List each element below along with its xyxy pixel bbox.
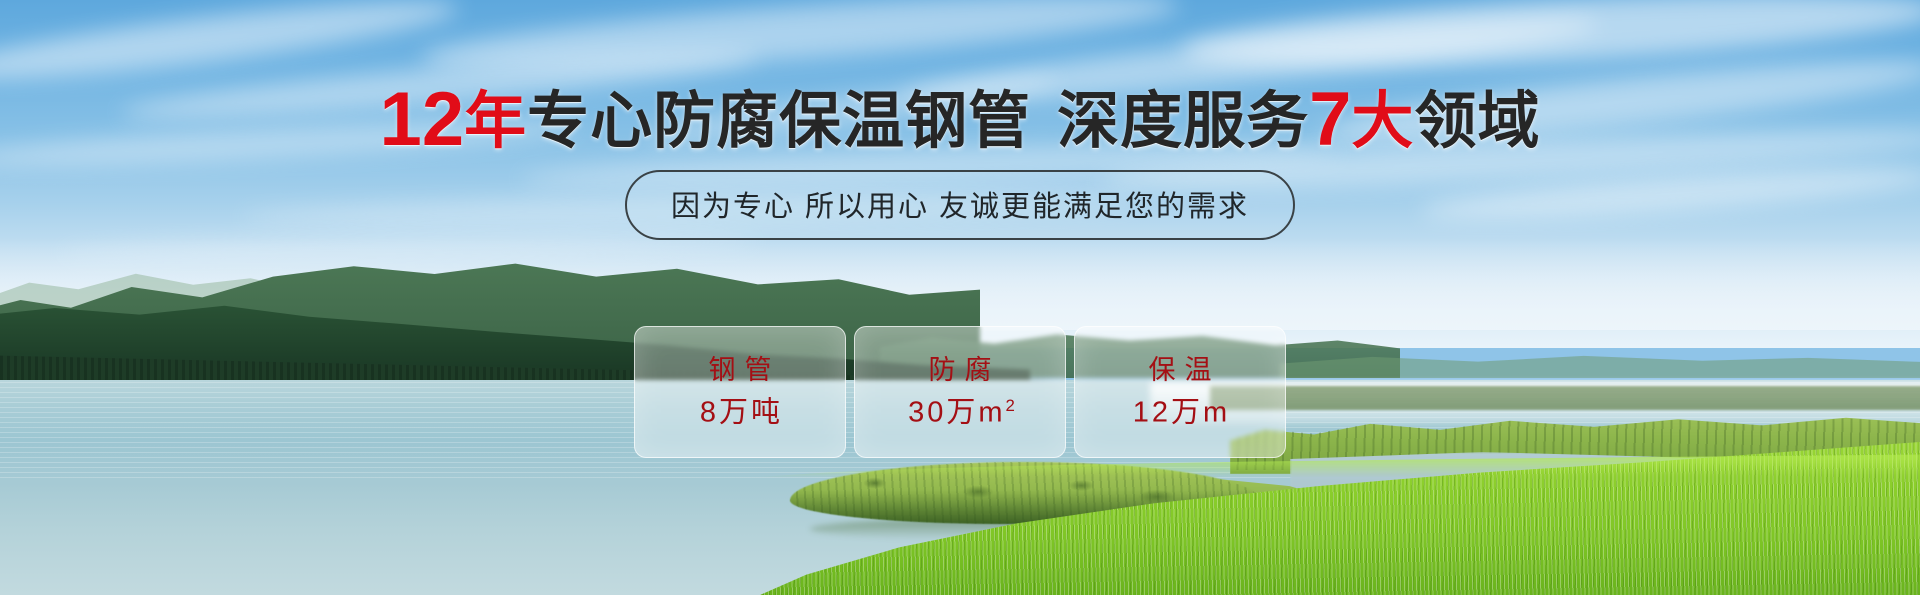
stat-card-title: 保温 xyxy=(1140,357,1221,384)
headline-fields-tail: 领域 xyxy=(1414,87,1540,156)
stat-card-anticorrosion[interactable]: 防腐 30万m2 xyxy=(854,326,1066,458)
headline-main-text: 专心防腐保温钢管 xyxy=(527,87,1031,156)
stat-card-value-text: 30万m xyxy=(908,396,1005,428)
stat-card-value: 30万m2 xyxy=(905,398,1015,428)
banner-content: 12年专心防腐保温钢管深度服务7大领域 因为专心 所以用心 友诚更能满足您的需求… xyxy=(0,0,1920,595)
stat-card-value-text: 8万吨 xyxy=(700,396,783,428)
headline-fields-unit: 大 xyxy=(1351,87,1414,156)
stat-card-insulation[interactable]: 保温 12万m xyxy=(1074,326,1286,458)
stat-card-value-text: 12万m xyxy=(1133,396,1230,428)
banner-headline: 12年专心防腐保温钢管深度服务7大领域 xyxy=(0,82,1920,158)
stat-card-value: 8万吨 xyxy=(697,398,783,428)
headline-fields-number: 7 xyxy=(1309,77,1351,162)
banner-subtitle-wrap: 因为专心 所以用心 友诚更能满足您的需求 xyxy=(0,170,1920,240)
stat-card-value-sup: 2 xyxy=(1006,396,1015,415)
hero-banner: 12年专心防腐保温钢管深度服务7大领域 因为专心 所以用心 友诚更能满足您的需求… xyxy=(0,0,1920,595)
banner-subtitle-pill: 因为专心 所以用心 友诚更能满足您的需求 xyxy=(625,170,1295,240)
stat-card-steel-pipe[interactable]: 钢管 8万吨 xyxy=(634,326,846,458)
stat-card-title: 防腐 xyxy=(920,357,1001,384)
headline-service-text: 深度服务 xyxy=(1057,87,1309,156)
stat-card-group: 钢管 8万吨 防腐 30万m2 保温 12万m xyxy=(0,326,1920,458)
headline-years-number: 12 xyxy=(380,77,465,162)
stat-card-title: 钢管 xyxy=(700,357,781,384)
headline-years-unit: 年 xyxy=(464,87,527,156)
stat-card-value: 12万m xyxy=(1130,398,1230,428)
